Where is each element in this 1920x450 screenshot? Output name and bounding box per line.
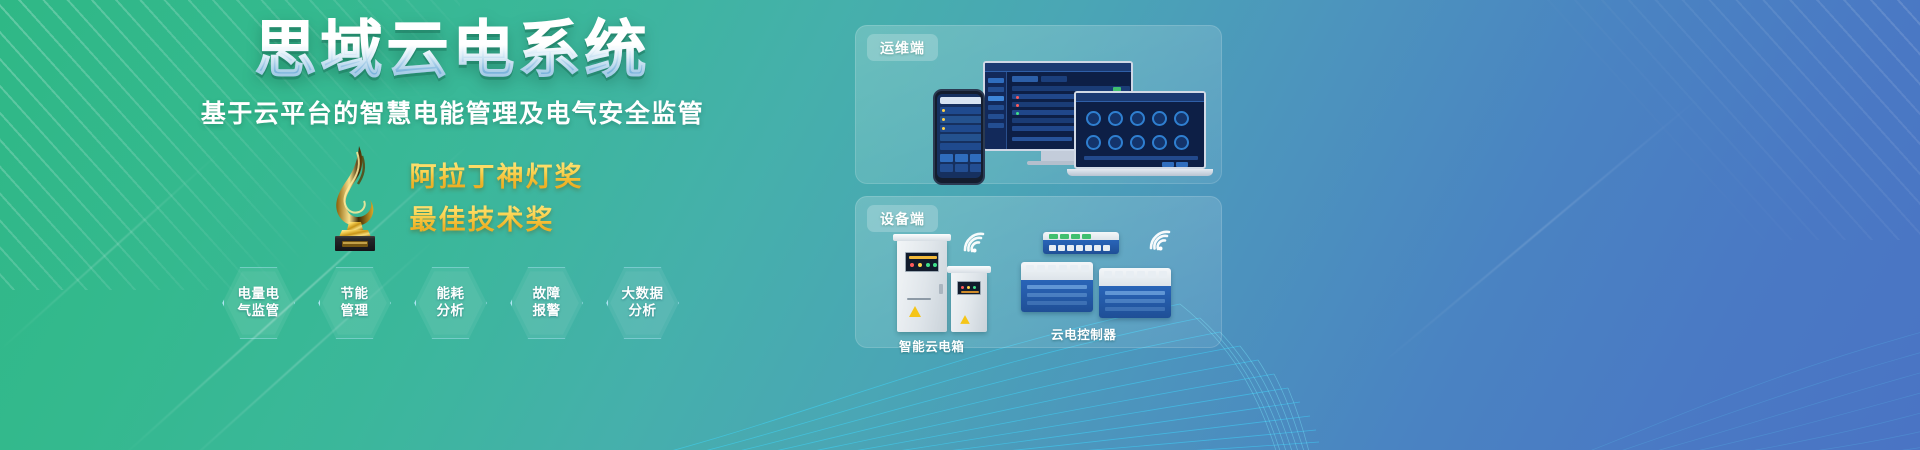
laptop-screen bbox=[1074, 91, 1206, 169]
feature-tag-list: 电量电 气监管 节能 管理 能耗 分析 故障 报警 大数据 分析 bbox=[0, 262, 855, 344]
device-caption-cabinet: 智能云电箱 bbox=[899, 336, 965, 355]
award-line-2: 最佳技术奖 bbox=[410, 198, 584, 237]
cloud-controller-left bbox=[1021, 262, 1093, 312]
feature-tag-label: 节能 管理 bbox=[341, 286, 369, 320]
wifi-signal-icon bbox=[1147, 228, 1173, 252]
feature-tag-label: 大数据 分析 bbox=[622, 286, 664, 320]
banner-right-content: 运维端 bbox=[852, 0, 1920, 450]
cabinet-display bbox=[957, 281, 981, 295]
phone-screen bbox=[937, 94, 981, 178]
cabinet-display bbox=[905, 252, 939, 272]
cloud-controller-right bbox=[1099, 268, 1171, 318]
promo-banner: 思域云电系统 基于云平台的智慧电能管理及电气安全监管 bbox=[0, 0, 1920, 450]
page-subtitle: 基于云平台的智慧电能管理及电气安全监管 bbox=[0, 94, 855, 130]
smart-cabinet-large bbox=[897, 240, 947, 332]
wifi-signal-icon bbox=[961, 230, 987, 254]
banner-left-content: 思域云电系统 基于云平台的智慧电能管理及电气安全监管 bbox=[0, 0, 855, 450]
feature-tag-label: 能耗 分析 bbox=[437, 286, 465, 320]
ui-topbar bbox=[1076, 93, 1204, 102]
panel-label-ops: 运维端 bbox=[867, 34, 938, 61]
award-text: 阿拉丁神灯奖 最佳技术奖 bbox=[410, 155, 584, 237]
laptop-base bbox=[1067, 169, 1213, 176]
trophy-icon bbox=[318, 140, 392, 252]
smart-cabinet-small bbox=[951, 272, 987, 332]
phone-mockup bbox=[933, 89, 985, 185]
feature-tag-3[interactable]: 故障 报警 bbox=[510, 266, 584, 340]
warning-triangle-icon bbox=[909, 306, 921, 317]
cabinet-top bbox=[893, 234, 951, 241]
cabinet-top bbox=[947, 266, 991, 273]
award-block: 阿拉丁神灯奖 最佳技术奖 bbox=[0, 140, 855, 252]
warning-triangle-icon bbox=[960, 315, 970, 324]
feature-tag-4[interactable]: 大数据 分析 bbox=[606, 266, 680, 340]
panel-ops: 运维端 bbox=[855, 25, 1222, 184]
ui-topbar bbox=[985, 63, 1131, 72]
feature-tag-label: 电量电 气监管 bbox=[238, 286, 280, 320]
cloud-controller-top bbox=[1043, 232, 1119, 254]
panel-label-devices: 设备端 bbox=[867, 205, 938, 232]
feature-tag-label: 故障 报警 bbox=[533, 286, 561, 320]
panel-devices: 设备端 bbox=[855, 196, 1222, 348]
feature-tag-0[interactable]: 电量电 气监管 bbox=[222, 266, 296, 340]
feature-tag-2[interactable]: 能耗 分析 bbox=[414, 266, 488, 340]
ui-sidebar bbox=[985, 72, 1007, 149]
laptop-mockup bbox=[1067, 91, 1213, 187]
award-line-1: 阿拉丁神灯奖 bbox=[410, 155, 584, 194]
feature-tag-1[interactable]: 节能 管理 bbox=[318, 266, 392, 340]
page-title: 思域云电系统 bbox=[0, 16, 855, 85]
device-caption-controller: 云电控制器 bbox=[1051, 324, 1117, 343]
